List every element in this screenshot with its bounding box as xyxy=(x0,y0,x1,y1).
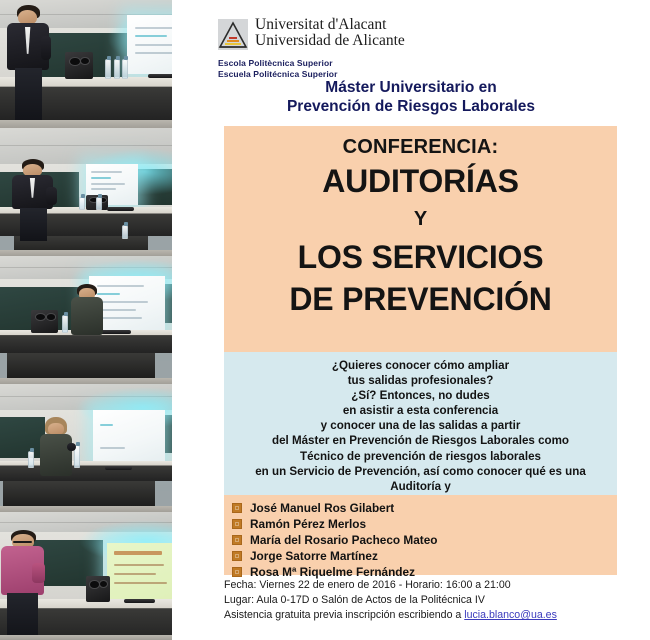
speakers-list: José Manuel Ros Gilabert Ramón Pérez Mer… xyxy=(224,495,617,579)
bullet-square-icon xyxy=(232,535,242,545)
bullet-square-icon xyxy=(232,519,242,529)
water-bottle xyxy=(79,197,85,210)
title-block: CONFERENCIA: AUDITORÍAS Y LOS SERVICIOS … xyxy=(224,126,617,320)
projection-screen xyxy=(107,543,172,599)
body-line: ¿Sí? Entonces, no dudes xyxy=(230,388,611,403)
body-line: ¿Quieres conocer cómo ampliar xyxy=(230,358,611,373)
list-item: Jorge Satorre Martínez xyxy=(232,548,617,563)
list-item: Rosa Mª Riquelme Fernández xyxy=(232,564,617,579)
microphone xyxy=(148,74,172,78)
poster-body: Universitat d'Alacant Universidad de Ali… xyxy=(172,0,650,640)
registration-prefix: Asistencia gratuita previa inscripción e… xyxy=(224,609,464,621)
footer-details: Fecha: Viernes 22 de enero de 2016 - Hor… xyxy=(224,578,624,623)
body-line: Técnico de prevención de riesgos laboral… xyxy=(230,449,611,464)
list-item: Ramón Pérez Merlos xyxy=(232,516,617,531)
universitat-alacant-logo-icon xyxy=(218,19,248,50)
water-bottle xyxy=(96,197,102,210)
water-bottle xyxy=(122,225,128,239)
footer-date-line: Fecha: Viernes 22 de enero de 2016 - Hor… xyxy=(224,578,624,593)
photo-speaker-5-lecture-hall xyxy=(0,512,172,640)
conference-label: CONFERENCIA: xyxy=(224,134,617,160)
master-line-1: Máster Universitario en xyxy=(172,78,650,97)
loudspeaker xyxy=(31,310,59,333)
brand-header: Universitat d'Alacant Universidad de Ali… xyxy=(218,17,405,50)
body-text: ¿Quieres conocer cómo ampliar tus salida… xyxy=(224,352,617,509)
title-band: CONFERENCIA: AUDITORÍAS Y LOS SERVICIOS … xyxy=(224,126,617,352)
water-bottle xyxy=(105,59,111,79)
speaker-name: María del Rosario Pacheco Mateo xyxy=(250,533,438,547)
person-presenter xyxy=(38,417,76,476)
school-subtitle: Escola Politècnica Superior Escuela Poli… xyxy=(218,58,337,79)
footer-registration-line: Asistencia gratuita previa inscripción e… xyxy=(224,608,624,623)
list-item: José Manuel Ros Gilabert xyxy=(232,500,617,515)
floor xyxy=(0,635,172,640)
school-line-valencian: Escola Politècnica Superior xyxy=(218,58,337,69)
speakers-band: José Manuel Ros Gilabert Ramón Pérez Mer… xyxy=(224,495,617,575)
brand-line-spanish: Universidad de Alicante xyxy=(255,33,405,49)
microphone xyxy=(105,466,133,470)
desk xyxy=(0,461,172,481)
list-item: María del Rosario Pacheco Mateo xyxy=(232,532,617,547)
body-line: tus salidas profesionales? xyxy=(230,373,611,388)
speaker-name: Rosa Mª Riquelme Fernández xyxy=(250,565,415,579)
title-line-2: LOS SERVICIOS xyxy=(224,236,617,278)
body-line: del Máster en Prevención de Riesgos Labo… xyxy=(230,433,611,448)
master-heading: Máster Universitario en Prevención de Ri… xyxy=(172,78,650,116)
body-line: en un Servicio de Prevención, así como c… xyxy=(230,464,611,494)
master-line-2: Prevención de Riesgos Laborales xyxy=(172,97,650,116)
title-conjunction: Y xyxy=(224,202,617,236)
body-band: ¿Quieres conocer cómo ampliar tus salida… xyxy=(224,352,617,495)
contact-email-link[interactable]: lucia.blanco@ua.es xyxy=(464,609,557,621)
projection-screen xyxy=(127,15,172,74)
bullet-square-icon xyxy=(232,567,242,577)
brand-line-valencian: Universitat d'Alacant xyxy=(255,17,405,33)
title-line-3: DE PREVENCIÓN xyxy=(224,278,617,320)
photo-column xyxy=(0,0,172,640)
person-presenter xyxy=(10,159,58,241)
photo-speaker-2-lecture-hall xyxy=(0,128,172,256)
person-presenter xyxy=(0,530,52,640)
poster-screenshot: Universitat d'Alacant Universidad de Ali… xyxy=(0,0,650,640)
floor xyxy=(0,120,172,128)
photo-speaker-4-lecture-hall xyxy=(0,384,172,512)
bullet-square-icon xyxy=(232,551,242,561)
water-bottle xyxy=(114,59,120,79)
glasses-icon xyxy=(13,541,32,543)
microphone xyxy=(107,207,135,211)
photo-speaker-1-lecture-hall xyxy=(0,0,172,128)
brand-text: Universitat d'Alacant Universidad de Ali… xyxy=(255,17,405,49)
footer-place-line: Lugar: Aula 0-17D o Salón de Actos de la… xyxy=(224,593,624,608)
water-bottle xyxy=(62,315,68,333)
body-line: en asistir a esta conferencia xyxy=(230,403,611,418)
water-bottle xyxy=(28,451,34,469)
title-line-1: AUDITORÍAS xyxy=(224,160,617,202)
photo-speaker-3-lecture-hall xyxy=(0,256,172,384)
body-line: y conocer una de las salidas a partir xyxy=(230,418,611,433)
loudspeaker xyxy=(86,576,110,602)
speaker-name: José Manuel Ros Gilabert xyxy=(250,501,394,515)
desk-front xyxy=(7,353,155,379)
water-bottle xyxy=(122,59,128,79)
desk-front xyxy=(3,481,154,507)
microphone xyxy=(124,599,155,603)
person-presenter xyxy=(3,5,55,123)
person-presenter xyxy=(69,284,107,335)
projection-screen xyxy=(93,410,165,464)
speaker-name: Ramón Pérez Merlos xyxy=(250,517,366,531)
loudspeaker xyxy=(65,52,93,79)
speaker-name: Jorge Satorre Martínez xyxy=(250,549,378,563)
bullet-square-icon xyxy=(232,503,242,513)
